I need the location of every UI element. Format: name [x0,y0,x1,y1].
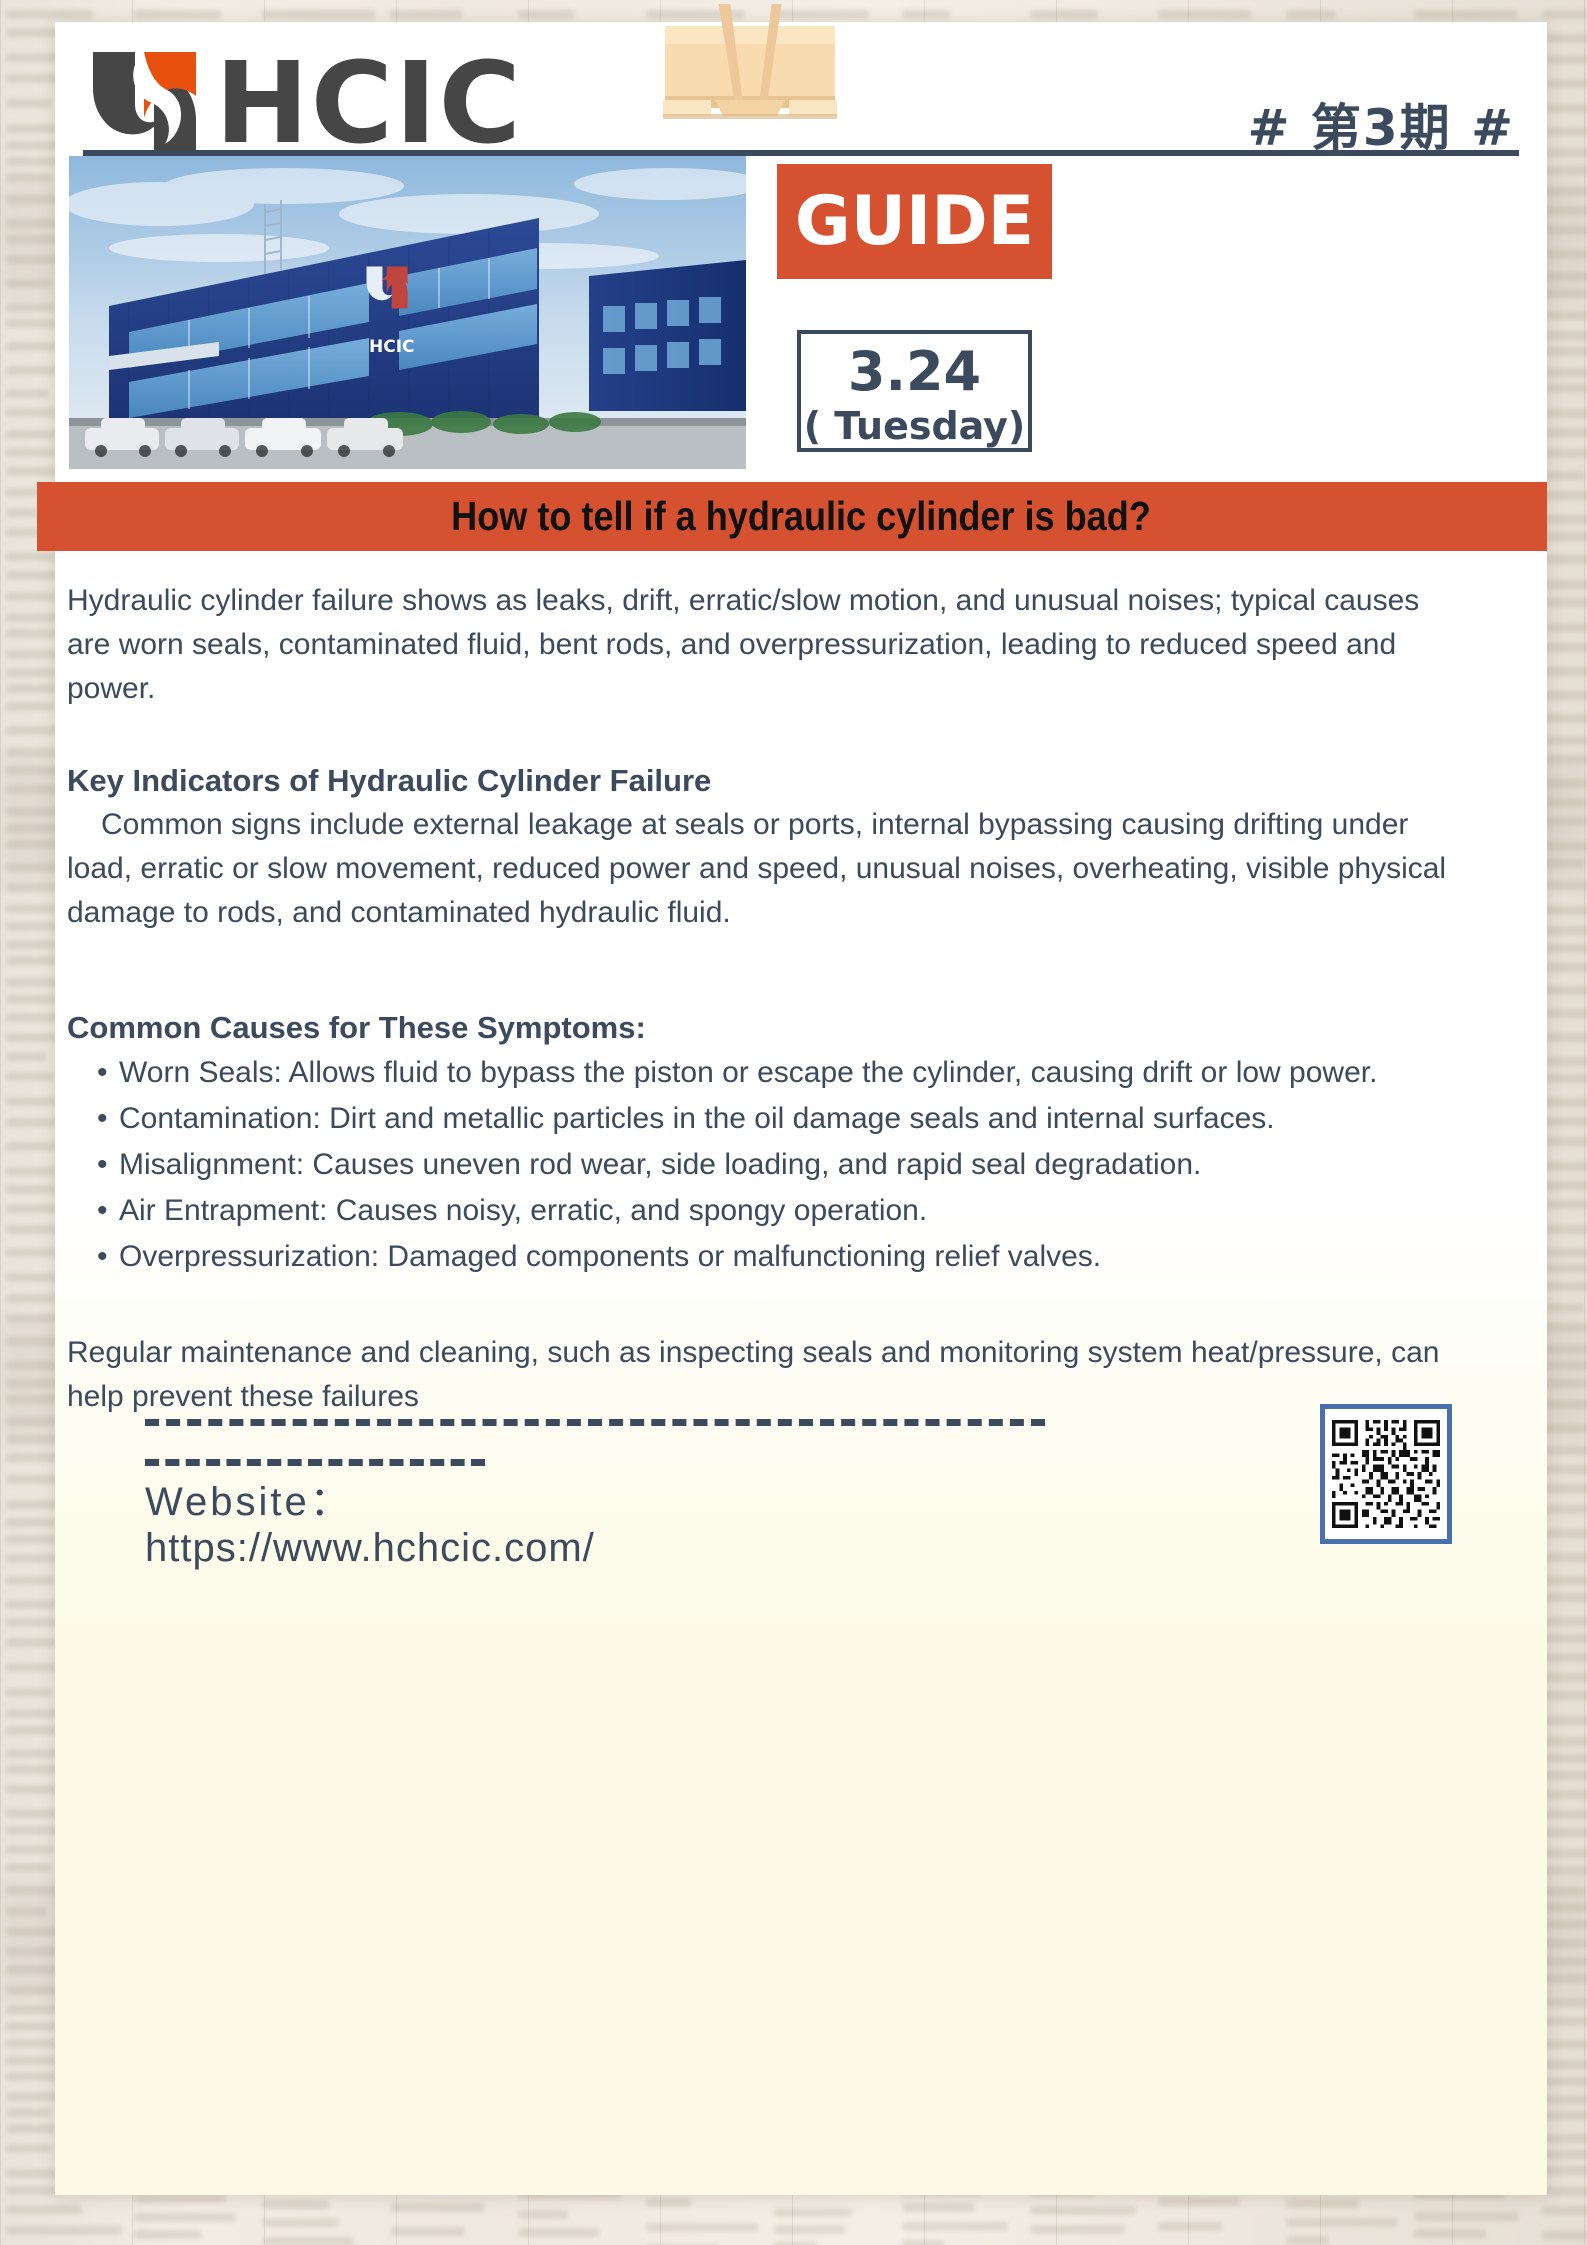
hcic-factory-building-photo: HCIC [69,156,746,469]
bullet-marker-icon: • [97,1235,108,1279]
list-item: • Overpressurization: Damaged components… [67,1235,1467,1279]
bullet-marker-icon: • [97,1143,108,1187]
causes-list: • Worn Seals: Allows fluid to bypass the… [67,1051,1467,1281]
bullet-marker-icon: • [97,1097,108,1141]
list-item-text: Air Entrapment: Causes noisy, erratic, a… [119,1194,927,1227]
list-item-text: Misalignment: Causes uneven rod wear, si… [119,1148,1201,1181]
article-body: Hydraulic cylinder failure shows as leak… [55,551,1547,2195]
qr-code-icon[interactable] [1320,1404,1452,1544]
list-item: • Worn Seals: Allows fluid to bypass the… [67,1051,1467,1095]
closing-paragraph: Regular maintenance and cleaning, such a… [67,1331,1467,1419]
website-url-link[interactable]: https://www.hchcic.com/ [145,1526,595,1571]
bullet-marker-icon: • [97,1189,108,1233]
guide-badge: GUIDE [777,164,1052,279]
bullet-marker-icon: • [97,1051,108,1095]
list-item: • Contamination: Dirt and metallic parti… [67,1097,1467,1141]
page-title: How to tell if a hydraulic cylinder is b… [145,482,1458,551]
list-item-text: Contamination: Dirt and metallic particl… [119,1102,1275,1135]
list-item-text: Overpressurization: Damaged components o… [119,1240,1101,1273]
list-item-text: Worn Seals: Allows fluid to bypass the p… [119,1056,1377,1089]
svg-text:HCIC: HCIC [369,337,415,357]
dashed-divider-short [145,1459,485,1466]
flyer-card: HCIC # 第3期 # [55,22,1547,2195]
section-heading-key-indicators: Key Indicators of Hydraulic Cylinder Fai… [67,759,1457,803]
article-title-banner: How to tell if a hydraulic cylinder is b… [37,482,1547,551]
website-label: Website： [145,1469,353,1527]
date-weekday: ( Tuesday) [801,403,1028,449]
dashed-divider-long [145,1419,1045,1426]
binder-clip-icon [655,4,845,139]
date-day: 3.24 [801,341,1028,403]
list-item: • Air Entrapment: Causes noisy, erratic,… [67,1189,1467,1233]
list-item: • Misalignment: Causes uneven rod wear, … [67,1143,1467,1187]
hcic-swirl-logo-icon [87,46,202,162]
intro-paragraph: Hydraulic cylinder failure shows as leak… [67,579,1457,711]
section-heading-common-causes: Common Causes for These Symptoms: [67,1006,1457,1050]
key-indicators-paragraph: Common signs include external leakage at… [67,803,1457,935]
hcic-wordmark: HCIC [215,46,523,162]
date-box: 3.24 ( Tuesday) [797,330,1032,452]
